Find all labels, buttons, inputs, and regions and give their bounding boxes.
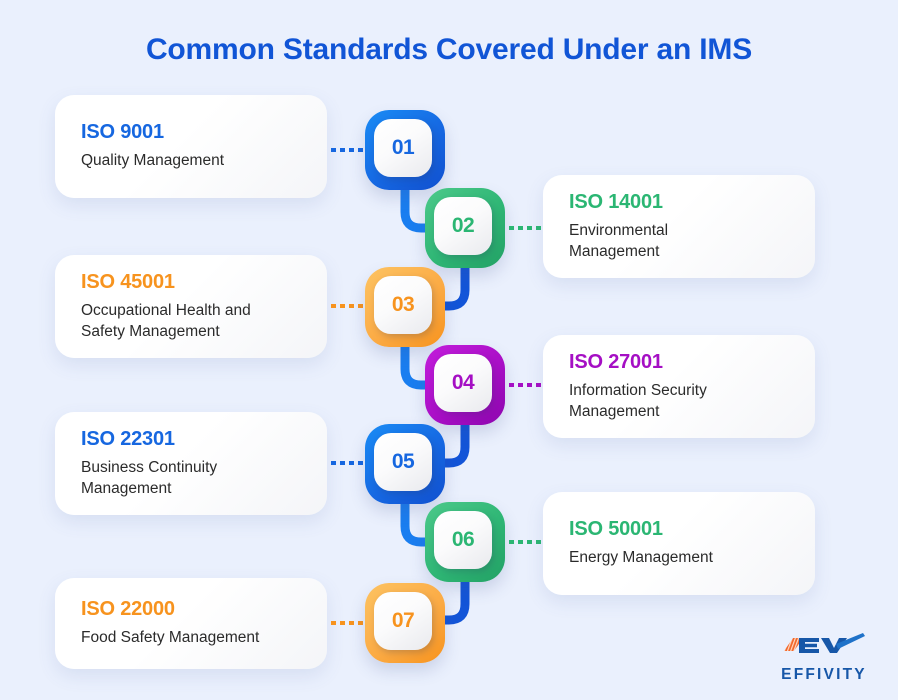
node-number-6: 06 <box>452 528 474 552</box>
card-title-1: ISO 9001 <box>81 121 301 144</box>
effivity-logo-mark-icon <box>781 632 867 661</box>
dotted-link-6 <box>509 540 543 544</box>
card-title-6: ISO 50001 <box>569 518 789 541</box>
card-step-5[interactable]: ISO 22301 Business Continuity Management <box>55 412 327 515</box>
card-description-7: Food Safety Management <box>81 628 301 649</box>
node-number-4: 04 <box>452 371 474 395</box>
card-title-5: ISO 22301 <box>81 428 301 451</box>
dotted-link-3 <box>331 304 365 308</box>
dotted-link-2 <box>509 226 543 230</box>
dotted-link-7 <box>331 621 365 625</box>
card-title-2: ISO 14001 <box>569 191 789 214</box>
node-step-3[interactable]: 03 <box>365 267 445 347</box>
card-step-1[interactable]: ISO 9001 Quality Management <box>55 95 327 198</box>
card-description-4: Information Security Management <box>569 381 754 422</box>
card-step-3[interactable]: ISO 45001 Occupational Health and Safety… <box>55 255 327 358</box>
node-step-6[interactable]: 06 <box>425 502 505 582</box>
card-step-6[interactable]: ISO 50001 Energy Management <box>543 492 815 595</box>
card-description-6: Energy Management <box>569 548 789 569</box>
node-step-1[interactable]: 01 <box>365 110 445 190</box>
node-inner-5: 05 <box>374 433 432 491</box>
node-number-7: 07 <box>392 609 414 633</box>
node-number-1: 01 <box>392 136 414 160</box>
node-number-5: 05 <box>392 450 414 474</box>
dotted-link-4 <box>509 383 543 387</box>
node-step-2[interactable]: 02 <box>425 188 505 268</box>
card-title-4: ISO 27001 <box>569 351 789 374</box>
node-inner-2: 02 <box>434 197 492 255</box>
node-inner-1: 01 <box>374 119 432 177</box>
effivity-logo[interactable]: EFFIVITY <box>768 632 880 684</box>
dotted-link-1 <box>331 148 365 152</box>
node-number-2: 02 <box>452 214 474 238</box>
node-step-7[interactable]: 07 <box>365 583 445 663</box>
card-description-3: Occupational Health and Safety Managemen… <box>81 301 296 342</box>
node-step-4[interactable]: 04 <box>425 345 505 425</box>
node-number-3: 03 <box>392 293 414 317</box>
card-title-3: ISO 45001 <box>81 271 301 294</box>
card-title-7: ISO 22000 <box>81 598 301 621</box>
node-inner-6: 06 <box>434 511 492 569</box>
card-step-4[interactable]: ISO 27001 Information Security Managemen… <box>543 335 815 438</box>
dotted-link-5 <box>331 461 365 465</box>
node-inner-4: 04 <box>434 354 492 412</box>
infographic-root: Common Standards Covered Under an IMS IS… <box>0 0 898 700</box>
card-description-5: Business Continuity Management <box>81 458 241 499</box>
effivity-wordmark: EFFIVITY <box>768 666 880 684</box>
node-inner-7: 07 <box>374 592 432 650</box>
card-description-1: Quality Management <box>81 151 301 172</box>
card-step-2[interactable]: ISO 14001 Environmental Management <box>543 175 815 278</box>
node-step-5[interactable]: 05 <box>365 424 445 504</box>
card-description-2: Environmental Management <box>569 221 739 262</box>
card-step-7[interactable]: ISO 22000 Food Safety Management <box>55 578 327 669</box>
node-inner-3: 03 <box>374 276 432 334</box>
